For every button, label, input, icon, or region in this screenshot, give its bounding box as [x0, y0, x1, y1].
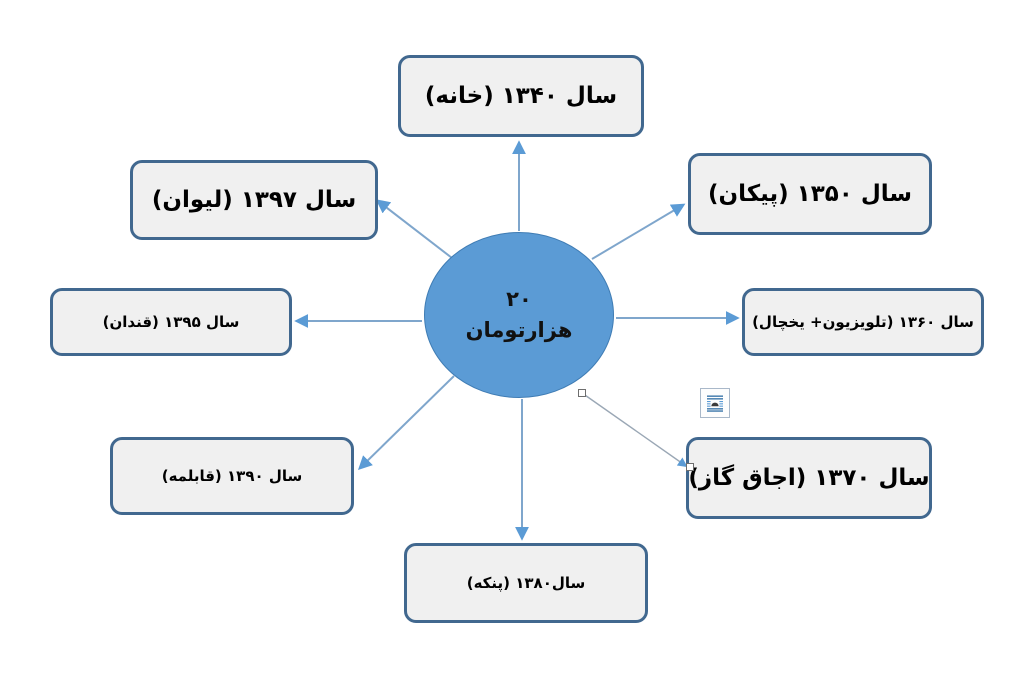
connector-to-1390	[360, 376, 454, 468]
selection-handle-start[interactable]	[578, 389, 586, 397]
node-1340[interactable]: سال ۱۳۴۰ (خانه)	[398, 55, 644, 137]
node-label-1390: سال ۱۳۹۰ (قابلمه)	[162, 467, 303, 486]
connector-to-1350	[592, 205, 683, 259]
text-wrap-icon	[705, 393, 725, 413]
node-1370[interactable]: سال ۱۳۷۰ (اجاق گاز)	[686, 437, 932, 519]
selection-handle-end[interactable]	[686, 463, 694, 471]
diagram-canvas: ۲۰ هزارتومان سال ۱۳۴۰ (خانه) سال ۱۳۵۰ (پ…	[0, 0, 1015, 697]
layout-options-button[interactable]	[700, 388, 730, 418]
node-1380[interactable]: سال۱۳۸۰ (پنکه)	[404, 543, 648, 623]
connector-to-1370	[582, 393, 686, 466]
node-label-1370: سال ۱۳۷۰ (اجاق گاز)	[688, 464, 929, 493]
center-hub[interactable]: ۲۰ هزارتومان	[424, 232, 614, 398]
node-label-1340: سال ۱۳۴۰ (خانه)	[425, 82, 617, 111]
node-1350[interactable]: سال ۱۳۵۰ (پیکان)	[688, 153, 932, 235]
node-label-1350: سال ۱۳۵۰ (پیکان)	[708, 180, 912, 209]
node-1395[interactable]: سال ۱۳۹۵ (قندان)	[50, 288, 292, 356]
node-1360[interactable]: سال ۱۳۶۰ (تلویزیون+ یخچال)	[742, 288, 984, 356]
node-label-1395: سال ۱۳۹۵ (قندان)	[103, 313, 240, 332]
hub-amount: ۲۰	[506, 284, 532, 316]
node-1397[interactable]: سال ۱۳۹۷ (لیوان)	[130, 160, 378, 240]
connector-to-1397	[378, 201, 452, 258]
node-label-1360: سال ۱۳۶۰ (تلویزیون+ یخچال)	[752, 313, 974, 332]
hub-unit: هزارتومان	[466, 315, 573, 347]
node-label-1397: سال ۱۳۹۷ (لیوان)	[152, 186, 356, 215]
node-1390[interactable]: سال ۱۳۹۰ (قابلمه)	[110, 437, 354, 515]
node-label-1380: سال۱۳۸۰ (پنکه)	[467, 574, 586, 593]
